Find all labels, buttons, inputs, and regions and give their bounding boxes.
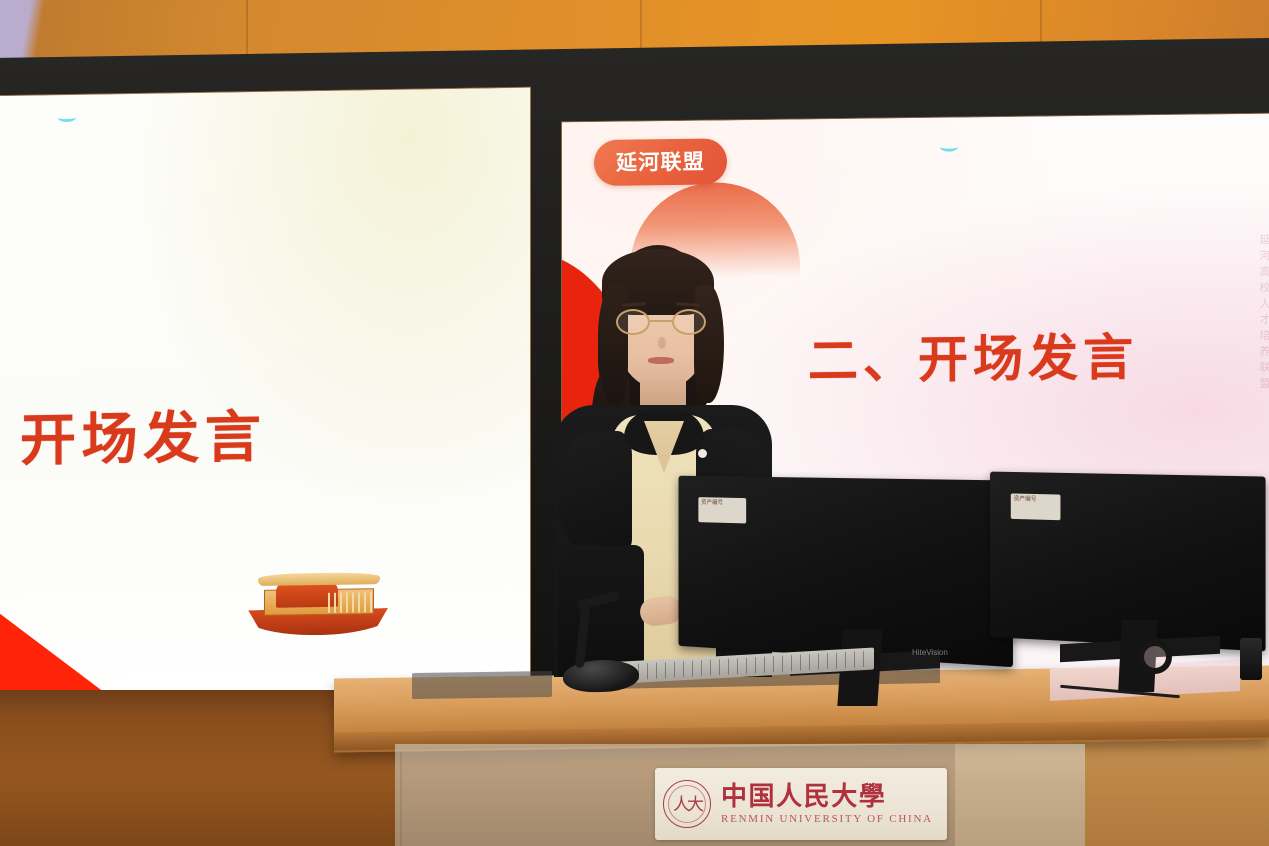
nose [658,337,666,349]
right-slide-title: 二、开场发言 [808,317,1138,393]
glasses-icon [614,309,710,335]
alliance-badge: 延河联盟 [594,138,727,186]
arm-left [558,545,644,677]
cyan-bird-icon [58,113,76,122]
asset-sticker: 资产编号 [698,497,746,523]
left-slide-title: 开场发言 [20,392,266,477]
shoulder-left [558,431,632,551]
plaque-english-name: RENMIN UNIVERSITY OF CHINA [721,813,933,825]
cyan-bird-icon [940,143,958,152]
university-seal-icon: 人大 [663,780,711,828]
left-display-screen[interactable]: 开场发言 [0,88,530,696]
collar-button [698,449,707,458]
red-swoosh-shape [0,504,120,696]
hair-side-right [694,285,724,403]
desk-mat [412,671,552,699]
conference-room-scene: 开场发言 延河联盟 二、开场发言 延河高校人才培养联盟 鸿合 HiteVisio… [0,0,1269,846]
left-slide: 开场发言 [0,88,530,696]
edge-watermark: 延河高校人才培养联盟 [1256,234,1269,394]
stand-handle-cutout [1138,640,1172,674]
monitor-brand-label: HiteVision [912,648,948,657]
plaque-chinese-name: 中国人民大學 [721,783,933,810]
red-boat-graphic [242,568,394,642]
asset-sticker: 资产编号 [1011,493,1061,520]
university-plaque: 人大 中国人民大學 RENMIN UNIVERSITY OF CHINA [655,768,947,840]
seal-mark: 人大 [673,796,701,813]
desk-device [1240,638,1262,680]
mouth [648,357,674,364]
